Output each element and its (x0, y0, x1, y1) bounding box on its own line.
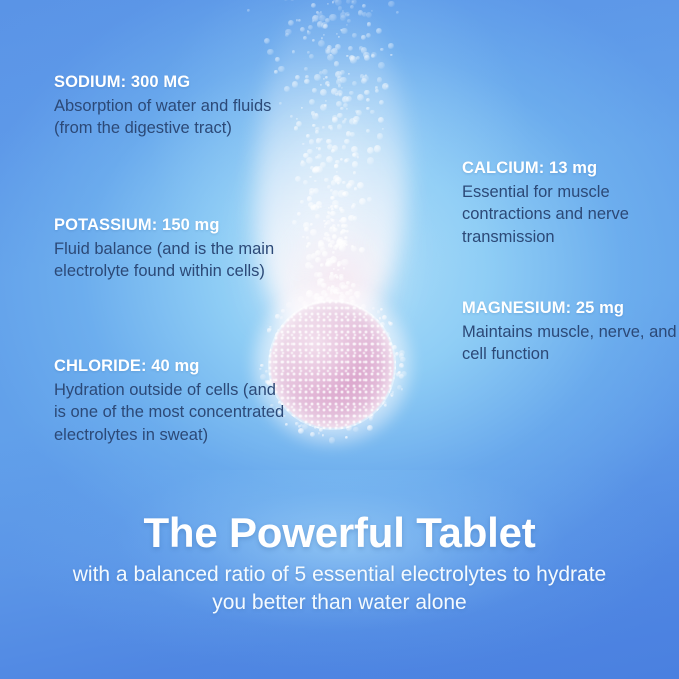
callout-body-calcium: Essential for muscle contractions and ne… (462, 181, 679, 249)
callout-magnesium: MAGNESIUM: 25 mg Maintains muscle, nerve… (462, 298, 679, 366)
callout-chloride: CHLORIDE: 40 mg Hydration outside of cel… (54, 356, 286, 447)
headline: The Powerful Tablet (0, 510, 679, 555)
callout-body-magnesium: Maintains muscle, nerve, and cell functi… (462, 321, 679, 367)
callout-title-magnesium: MAGNESIUM: 25 mg (462, 298, 679, 319)
footer-headline-block: The Powerful Tablet with a balanced rati… (0, 510, 679, 616)
callout-sodium: SODIUM: 300 MG Absorption of water and f… (54, 72, 286, 140)
callout-title-potassium: POTASSIUM: 150 mg (54, 215, 286, 236)
callout-title-calcium: CALCIUM: 13 mg (462, 158, 679, 179)
product-infographic: SODIUM: 300 MG Absorption of water and f… (0, 0, 679, 679)
subheadline: with a balanced ratio of 5 essential ele… (0, 561, 679, 616)
callout-calcium: CALCIUM: 13 mg Essential for muscle cont… (462, 158, 679, 249)
callout-body-potassium: Fluid balance (and is the main electroly… (54, 238, 286, 284)
callout-body-sodium: Absorption of water and fluids (from the… (54, 95, 286, 141)
callout-body-chloride: Hydration outside of cells (and is one o… (54, 379, 286, 447)
callout-title-chloride: CHLORIDE: 40 mg (54, 356, 286, 377)
callout-potassium: POTASSIUM: 150 mg Fluid balance (and is … (54, 215, 286, 283)
callout-title-sodium: SODIUM: 300 MG (54, 72, 286, 93)
